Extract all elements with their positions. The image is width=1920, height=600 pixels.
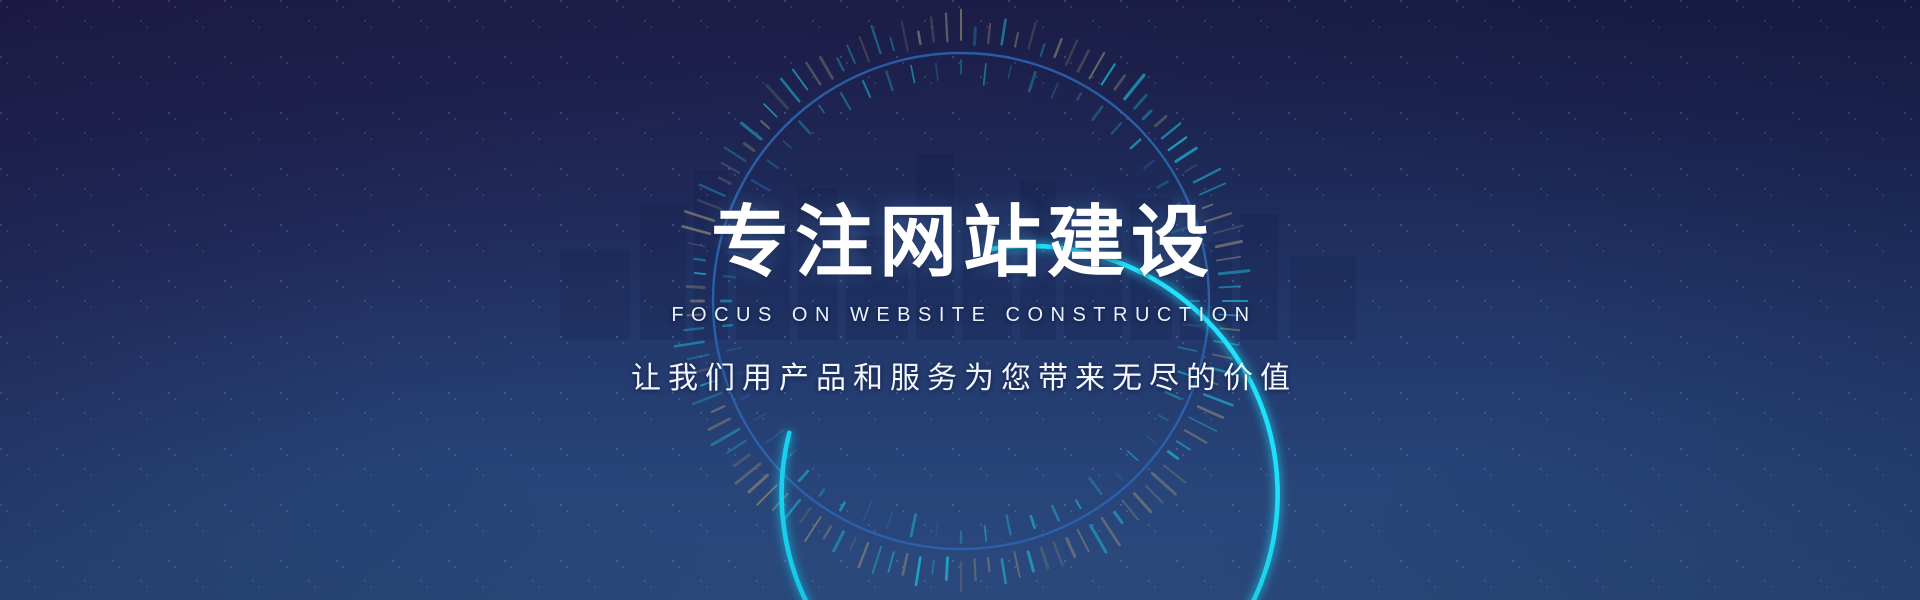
hero-subtitle-english: FOCUS ON WEBSITE CONSTRUCTION	[663, 304, 1256, 327]
hero-banner: 专注网站建设 FOCUS ON WEBSITE CONSTRUCTION 让我们…	[0, 0, 1920, 600]
hero-content: 专注网站建设 FOCUS ON WEBSITE CONSTRUCTION 让我们…	[0, 0, 1920, 600]
hero-subtitle-chinese: 让我们用产品和服务为您带来无尽的价值	[623, 353, 1297, 397]
hero-headline: 专注网站建设	[705, 204, 1215, 282]
